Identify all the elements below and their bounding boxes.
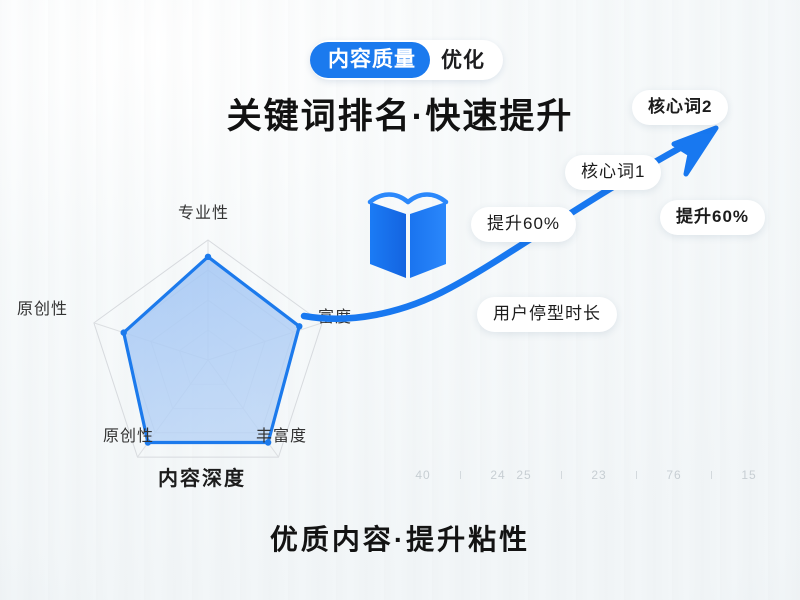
badge-secondary-label: 优化 xyxy=(430,50,498,71)
ruler-value: 76 xyxy=(661,468,687,482)
ruler-value: 25 xyxy=(511,468,537,482)
radar-data-area xyxy=(124,257,300,443)
ruler-value: 23 xyxy=(586,468,612,482)
radar-chart-svg xyxy=(38,200,368,470)
ruler-value: 40 xyxy=(410,468,436,482)
poster-canvas: 内容质量 优化 关键词排名·快速提升 优质内容·提升粘性 xyxy=(0,0,800,600)
radar-label-bottom-right: 丰富度 xyxy=(256,422,307,446)
radar-label-top: 专业性 xyxy=(178,199,229,223)
callout-dwell-time[interactable]: 用户停型时长 xyxy=(477,297,617,332)
callout-uplift-left[interactable]: 提升60% xyxy=(471,207,576,242)
callout-uplift-right[interactable]: 提升60% xyxy=(660,200,765,235)
callout-keyword-2[interactable]: 核心词2 xyxy=(632,90,728,125)
radar-label-left: 原创性 xyxy=(17,295,68,319)
ruler-value: 24 xyxy=(485,468,511,482)
ruler-tick xyxy=(460,471,461,479)
content-quality-badge[interactable]: 内容质量 优化 xyxy=(310,40,503,80)
callout-keyword-1[interactable]: 核心词1 xyxy=(565,155,661,190)
radar-caption: 内容深度 xyxy=(158,462,246,491)
badge-primary-label: 内容质量 xyxy=(310,42,430,78)
ruler-value: 15 xyxy=(736,468,762,482)
radar-label-right: 富度 xyxy=(318,303,352,327)
ruler-tick xyxy=(711,471,712,479)
faint-axis-ruler: 40 24 25 23 76 15 xyxy=(410,462,780,488)
ruler-tick xyxy=(636,471,637,479)
page-subtitle: 优质内容·提升粘性 xyxy=(0,518,800,558)
radar-chart: 专业性 富度 丰富度 原创性 原创性 xyxy=(38,200,368,470)
open-book-icon xyxy=(362,186,454,282)
radar-label-bottom-left: 原创性 xyxy=(103,422,154,446)
ruler-tick xyxy=(561,471,562,479)
